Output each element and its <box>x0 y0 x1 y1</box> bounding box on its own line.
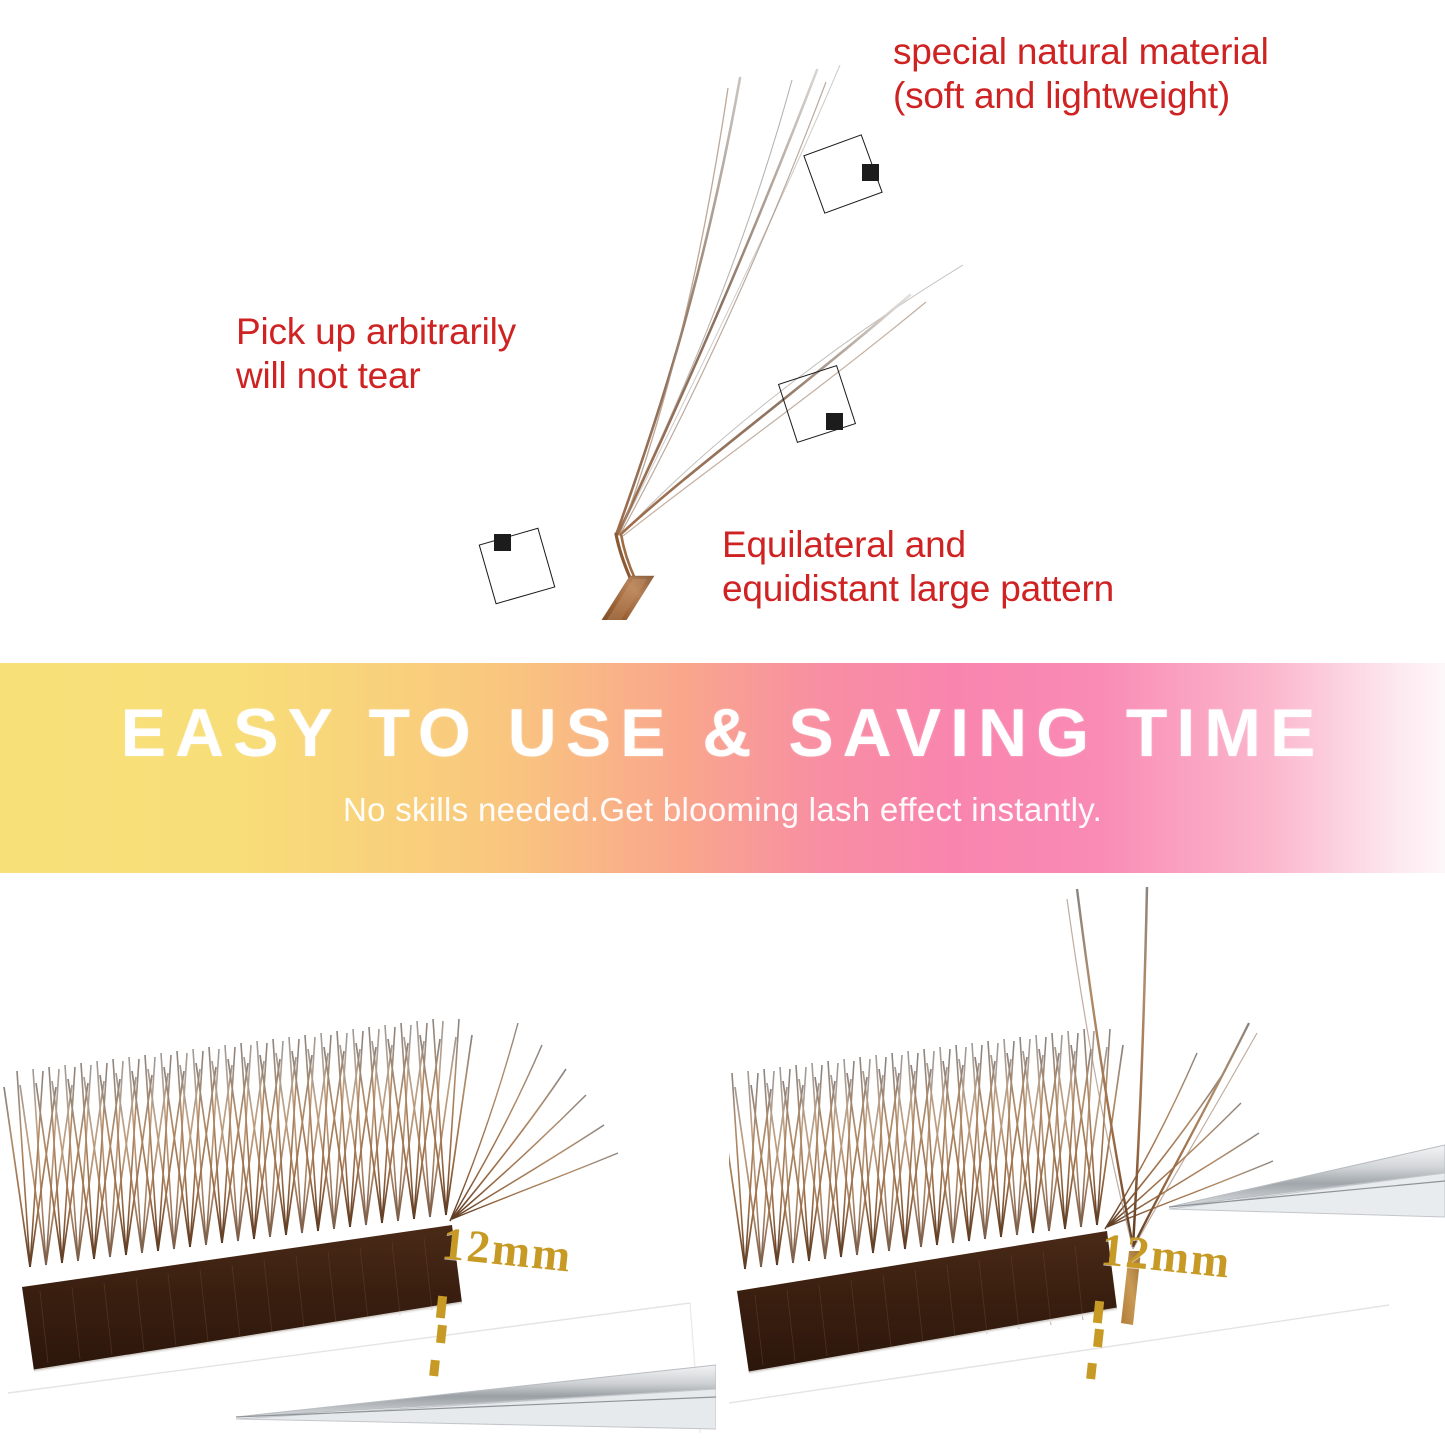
marker-dot-tip-icon <box>862 164 879 181</box>
banner-title: EASY TO USE & SAVING TIME <box>0 699 1445 767</box>
photo-panel-lash-tray-tweezer: 12mm <box>0 873 716 1445</box>
lash-tray-image-left <box>0 873 716 1445</box>
marker-dot-mid-icon <box>826 413 843 430</box>
callout-equilateral-equidistant: Equilateral and equidistant large patter… <box>722 523 1114 610</box>
top-feature-section: special natural material (soft and light… <box>0 0 1445 663</box>
lash-tray-image-right <box>729 873 1445 1445</box>
photo-panel-lash-pickup: 12mm <box>729 873 1445 1445</box>
banner-subtitle: No skills needed.Get blooming lash effec… <box>0 791 1445 829</box>
callout-pick-up-arbitrarily: Pick up arbitrarily will not tear <box>236 310 516 397</box>
headline-banner: EASY TO USE & SAVING TIME No skills need… <box>0 663 1445 873</box>
callout-special-natural-material: special natural material (soft and light… <box>893 30 1269 117</box>
bottom-photo-section: 12mm <box>0 873 1445 1445</box>
marker-dot-base-icon <box>494 534 511 551</box>
